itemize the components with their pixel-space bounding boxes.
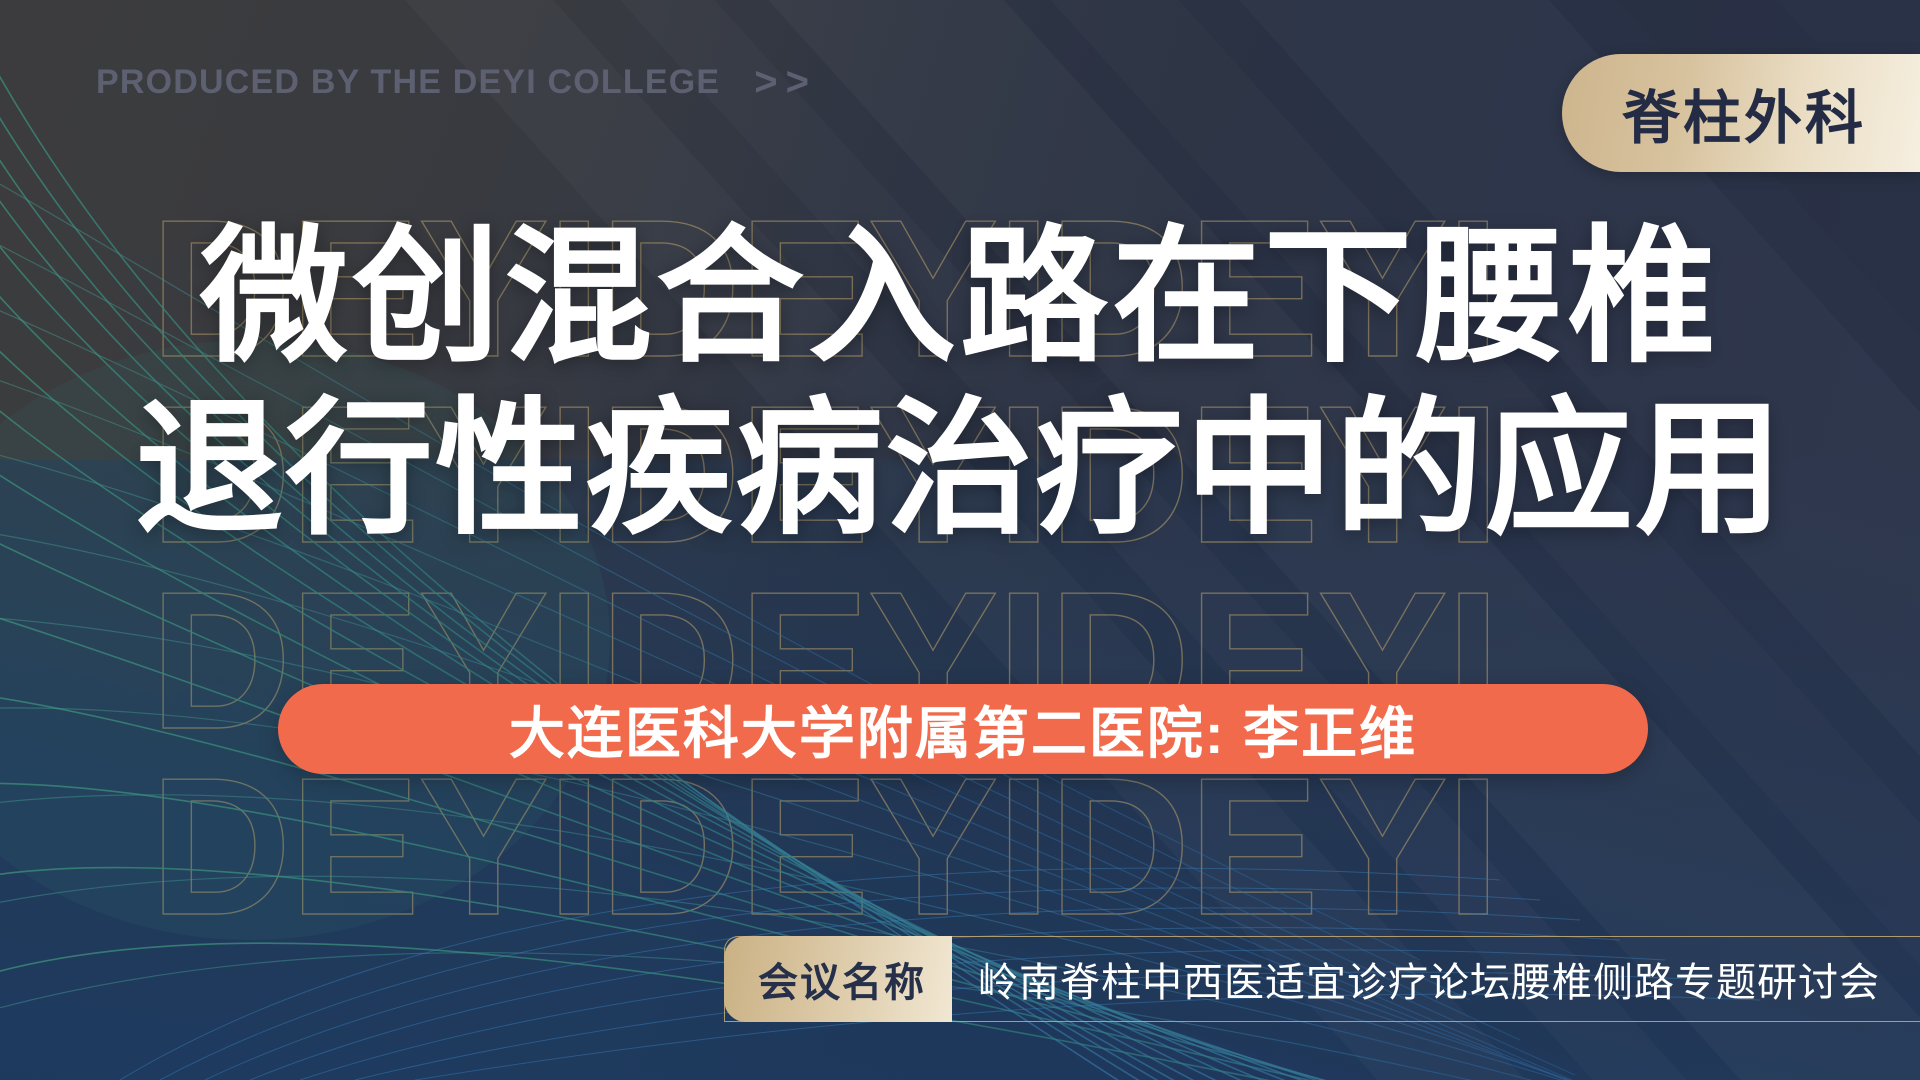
- meeting-bar-value: 岭南脊柱中西医适宜诊疗论坛腰椎侧路专题研讨会: [978, 950, 1880, 1008]
- chevron-right-icon-group: > >: [754, 62, 809, 102]
- kicker: PRODUCED BY THE DEYI COLLEGE > >: [96, 62, 809, 102]
- kicker-text: PRODUCED BY THE DEYI COLLEGE: [96, 63, 720, 102]
- meeting-bar: 会议名称 岭南脊柱中西医适宜诊疗论坛腰椎侧路专题研讨会: [724, 936, 1920, 1022]
- speaker-pill: 大连医科大学附属第二医院: 李正维: [278, 684, 1648, 774]
- page-title: 微创混合入路在下腰椎 退行性疾病治疗中的应用: [0, 212, 1920, 556]
- meeting-bar-label-tab: 会议名称: [724, 936, 952, 1022]
- title-line-1: 微创混合入路在下腰椎: [0, 212, 1920, 384]
- meeting-bar-label: 会议名称: [758, 950, 926, 1008]
- chevron-right-icon: >: [754, 62, 777, 102]
- chevron-right-icon: >: [786, 62, 809, 102]
- speaker-pill-text: 大连医科大学附属第二医院: 李正维: [509, 689, 1417, 770]
- poster-canvas: DEYIDEYIDEYI DEYIDEYIDEYI DEYIDEYIDEYI D…: [0, 0, 1920, 1080]
- meeting-bar-value-wrap: 岭南脊柱中西医适宜诊疗论坛腰椎侧路专题研讨会: [952, 936, 1920, 1022]
- title-line-2: 退行性疾病治疗中的应用: [0, 384, 1920, 556]
- department-badge-label: 脊柱外科: [1622, 71, 1866, 155]
- department-badge: 脊柱外科: [1562, 54, 1920, 172]
